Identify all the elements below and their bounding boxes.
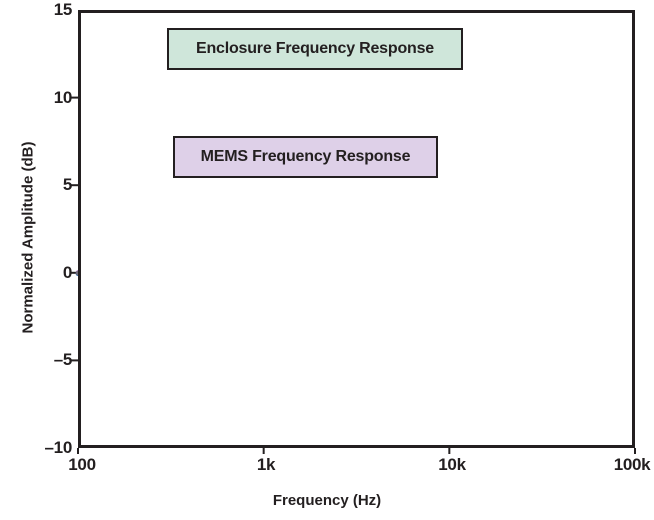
callout-enclosure-frequency-response: Enclosure Frequency Response: [167, 28, 463, 70]
chart-figure: 15 10 5 0 –5 –10 100 1k 10k 100k Normali…: [0, 0, 654, 520]
x-tick-label: 1k: [257, 455, 275, 475]
y-tick-label: 10: [2, 88, 72, 108]
y-tick-label: 5: [2, 175, 72, 195]
x-tick-label: 100k: [614, 455, 651, 475]
y-tick-label: –10: [2, 438, 72, 458]
plot-frame: [78, 10, 635, 448]
x-axis-title: Frequency (Hz): [0, 492, 654, 509]
y-tick-label: 15: [2, 0, 72, 20]
callout-mems-frequency-response: MEMS Frequency Response: [173, 136, 438, 178]
y-axis-title: Normalized Amplitude (dB): [20, 118, 37, 358]
x-tick-label: 100: [68, 455, 95, 475]
x-tick-label: 10k: [438, 455, 465, 475]
y-tick-label: 0: [2, 263, 72, 283]
y-tick-label: –5: [2, 350, 72, 370]
